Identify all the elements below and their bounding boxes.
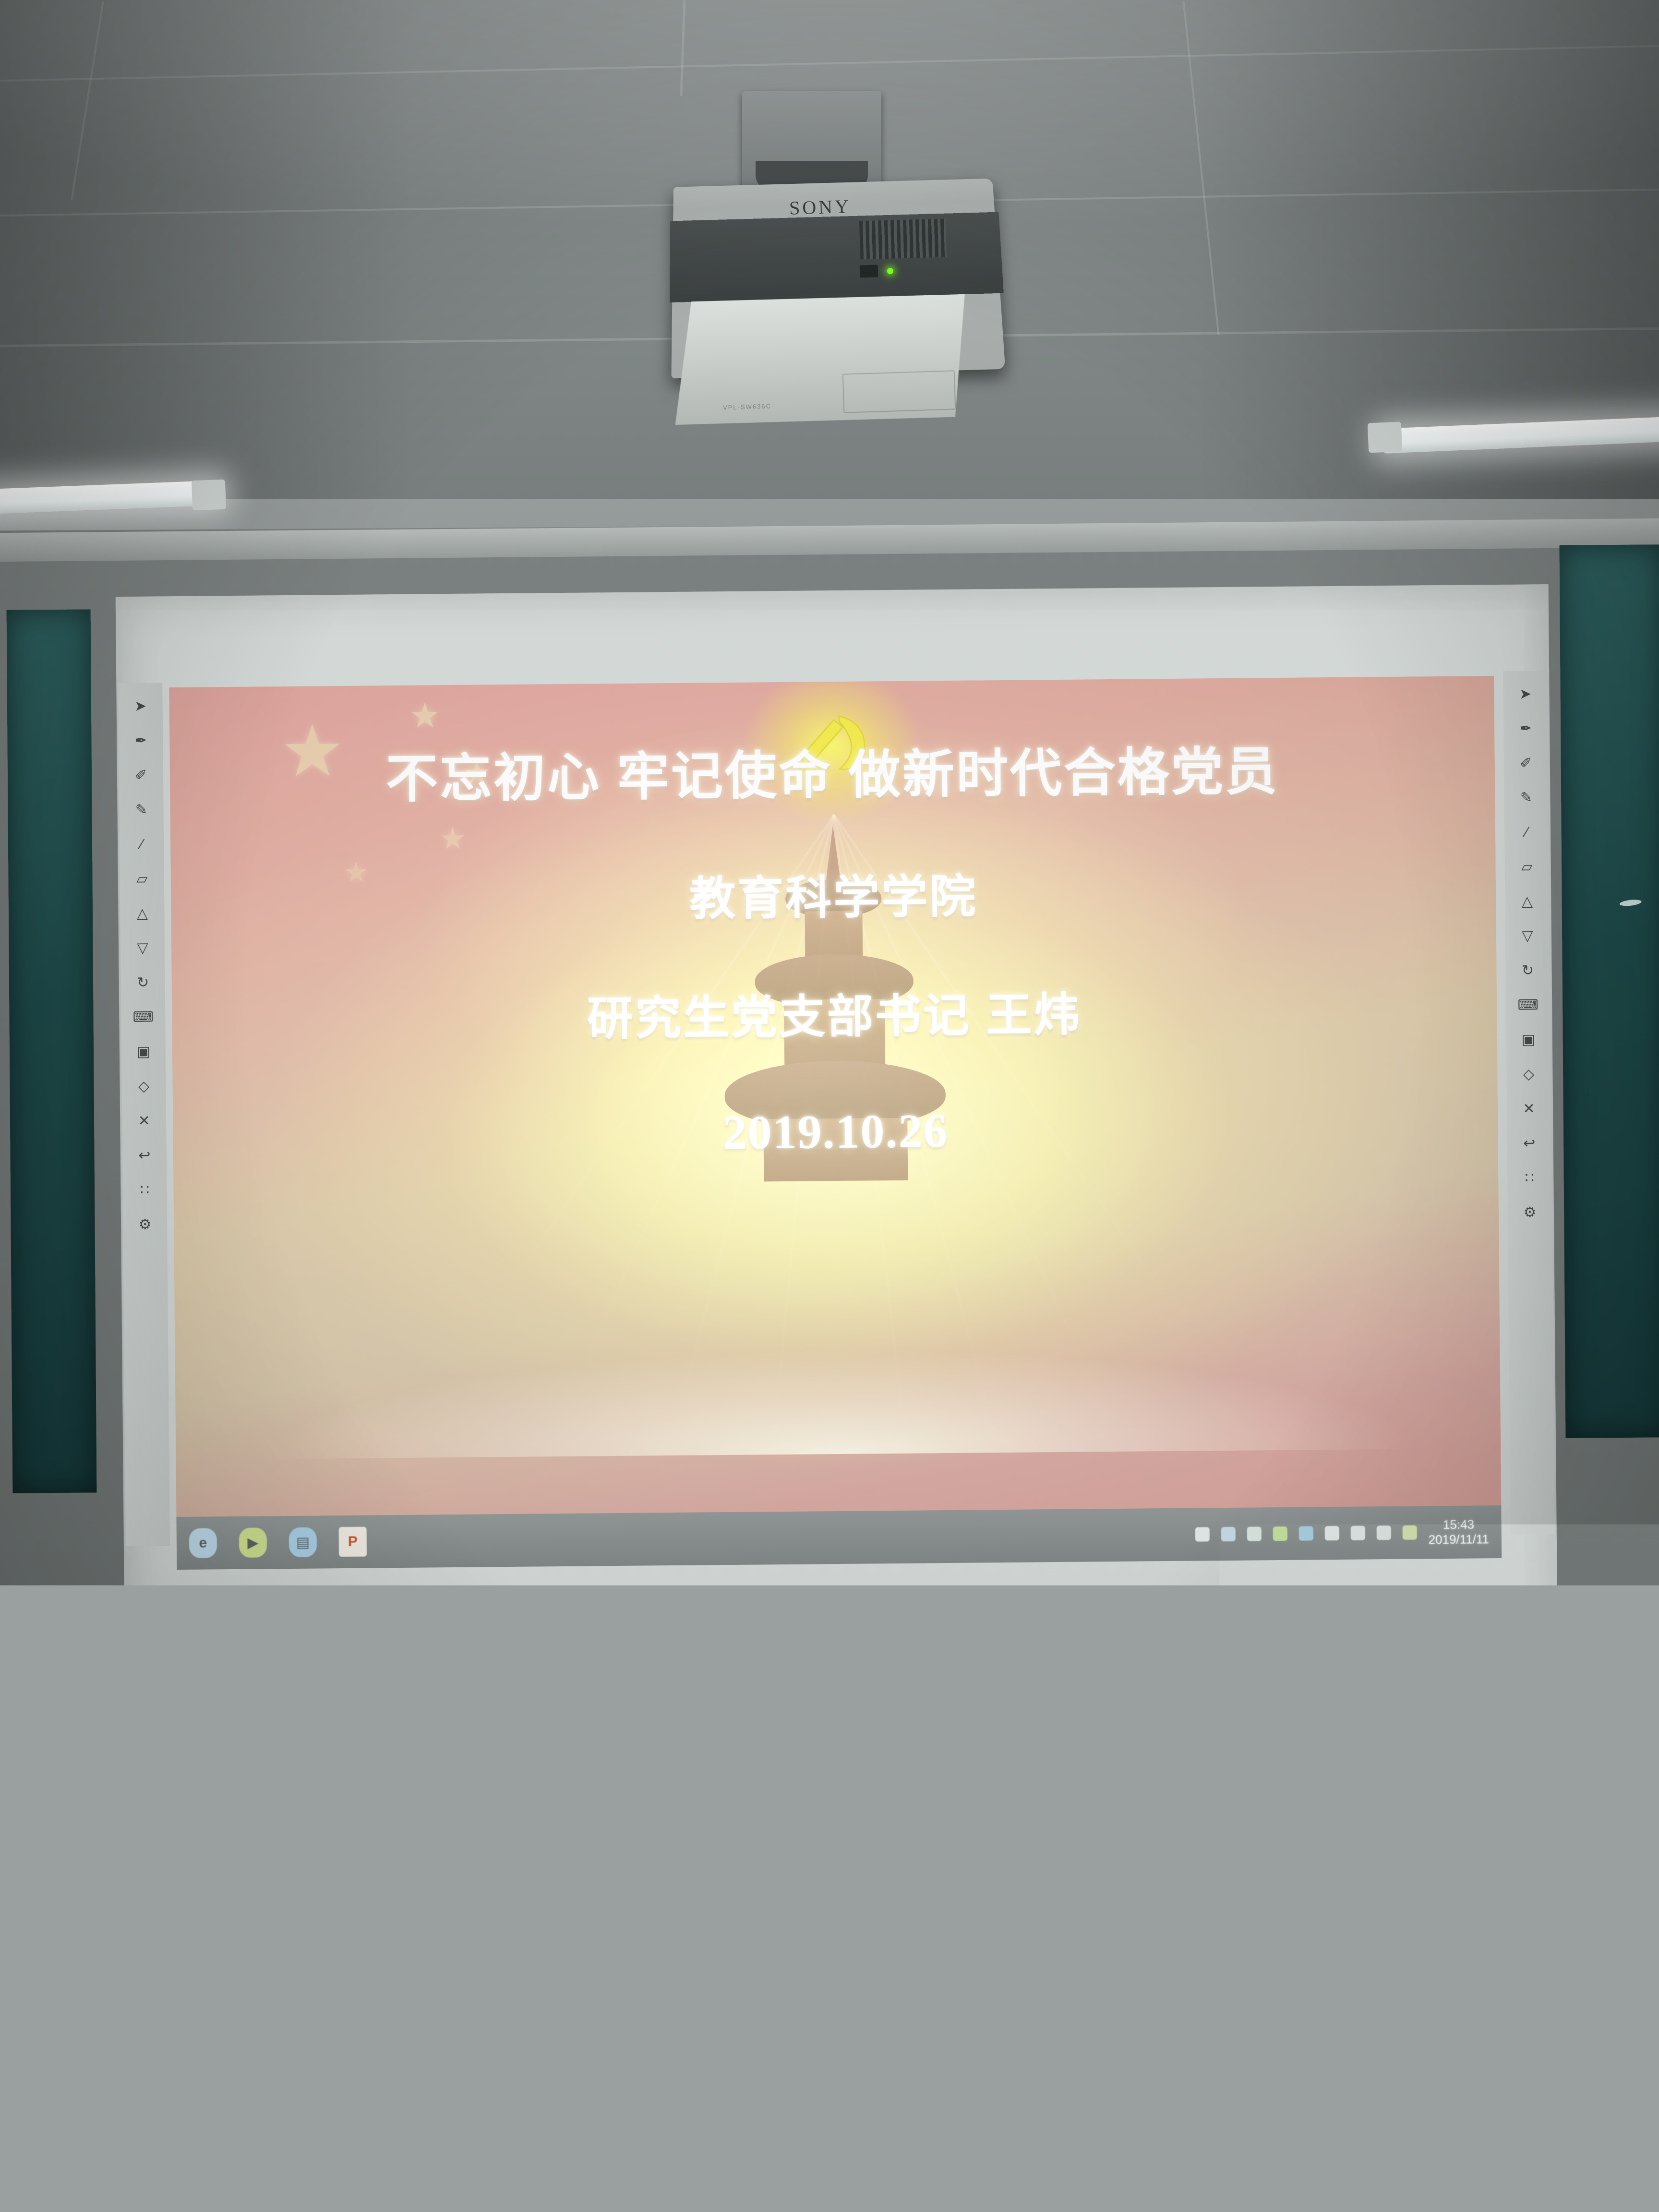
slide-organization: 教育科学学院 bbox=[171, 854, 1496, 933]
grid-menu-icon[interactable]: ∷ bbox=[130, 1175, 160, 1205]
explorer-icon[interactable]: ▤ bbox=[289, 1527, 317, 1557]
refresh-icon[interactable]: ↻ bbox=[1513, 956, 1543, 986]
light-end-cap bbox=[192, 480, 226, 511]
projector-ir-sensor-icon bbox=[860, 264, 878, 277]
tray-pen-icon[interactable] bbox=[1324, 1526, 1339, 1540]
close-icon[interactable]: ✕ bbox=[129, 1106, 159, 1136]
taskbar-system-tray[interactable]: 15:43 2019/11/11 bbox=[1195, 1517, 1489, 1550]
tray-monitor-icon[interactable] bbox=[1221, 1527, 1235, 1541]
page-up-icon[interactable]: △ bbox=[1512, 887, 1542, 917]
projector: SONY VPL-SW636C bbox=[670, 91, 1016, 456]
pen-icon[interactable]: ✒ bbox=[1511, 714, 1541, 744]
keyboard-icon[interactable]: ⌨ bbox=[1513, 990, 1543, 1021]
undo-icon[interactable]: ↩ bbox=[130, 1141, 160, 1171]
tray-sync-icon[interactable] bbox=[1350, 1526, 1365, 1540]
whiteboard-toolbar-right[interactable]: ➤✒✐✎∕▱△▽↻⌨▣◇✕↩∷⚙ bbox=[1503, 671, 1555, 1534]
cursor-icon[interactable]: ➤ bbox=[125, 691, 156, 721]
brush-icon[interactable]: ∕ bbox=[1512, 817, 1542, 848]
taskbar-pinned-apps[interactable]: e▶▤P bbox=[189, 1527, 367, 1558]
outlet-slot bbox=[905, 2008, 915, 2017]
media-icon[interactable]: ▶ bbox=[239, 1527, 267, 1558]
outlet-slot bbox=[909, 2041, 916, 2052]
brush-icon[interactable]: ∕ bbox=[127, 829, 157, 860]
cursor-icon[interactable]: ➤ bbox=[1510, 679, 1540, 709]
powerpoint-icon[interactable]: P bbox=[339, 1527, 367, 1557]
highlighter-icon[interactable]: ✐ bbox=[126, 760, 156, 791]
projected-slide: ★ ★ ★ ★ ★ bbox=[169, 676, 1501, 1518]
windows-taskbar[interactable]: e▶▤P 15:43 2019/11/11 bbox=[176, 1505, 1502, 1570]
settings-icon[interactable]: ⚙ bbox=[130, 1210, 160, 1240]
eraser-icon[interactable]: ▱ bbox=[127, 864, 157, 894]
projector-vent-icon bbox=[859, 219, 947, 260]
pen-icon[interactable]: ✒ bbox=[126, 726, 156, 756]
power-outlet bbox=[887, 1996, 960, 2072]
outlet-slot bbox=[921, 2027, 925, 2037]
slide-date: 2019.10.26 bbox=[173, 1098, 1498, 1165]
screen-capture-icon[interactable]: ▣ bbox=[129, 1037, 159, 1067]
tray-check-icon[interactable] bbox=[1273, 1527, 1287, 1541]
clock-date: 2019/11/11 bbox=[1429, 1532, 1490, 1547]
keyboard-icon[interactable]: ⌨ bbox=[128, 1002, 158, 1033]
settings-icon[interactable]: ⚙ bbox=[1515, 1198, 1545, 1228]
outlet-slot bbox=[929, 2041, 937, 2052]
page-up-icon[interactable]: △ bbox=[127, 899, 157, 929]
tray-doc-icon[interactable] bbox=[1247, 1527, 1261, 1541]
shape-select-icon[interactable]: ◇ bbox=[1514, 1059, 1544, 1090]
slide-presenter-role: 研究生党支部书记 王炜 bbox=[172, 974, 1497, 1052]
slide-title: 不忘初心 牢记使命 做新时代合格党员 bbox=[169, 728, 1495, 814]
whiteboard-toolbar-left[interactable]: ➤✒✐✎∕▱△▽↻⌨▣◇✕↩∷⚙ bbox=[118, 683, 170, 1546]
marker-icon[interactable]: ✎ bbox=[126, 795, 156, 825]
horizon-glow bbox=[169, 1303, 1501, 1461]
marker-icon[interactable]: ✎ bbox=[1511, 783, 1541, 813]
page-down-icon[interactable]: ▽ bbox=[1513, 921, 1543, 951]
blackboard-right bbox=[1560, 544, 1659, 1438]
shape-select-icon[interactable]: ◇ bbox=[129, 1071, 159, 1102]
screen-capture-icon[interactable]: ▣ bbox=[1514, 1025, 1544, 1055]
tray-arrow-icon[interactable] bbox=[1195, 1527, 1209, 1541]
projector-power-led-icon bbox=[887, 268, 893, 274]
outlet-slot bbox=[928, 2008, 938, 2016]
chalk-smudge bbox=[1619, 899, 1642, 907]
light-end-cap bbox=[1368, 422, 1403, 453]
tray-shield-icon[interactable] bbox=[1298, 1526, 1313, 1540]
refresh-icon[interactable]: ↻ bbox=[128, 968, 158, 998]
projector-dark-band bbox=[670, 212, 1003, 302]
page-down-icon[interactable]: ▽ bbox=[128, 933, 158, 963]
flag-star-icon: ★ bbox=[439, 824, 466, 854]
highlighter-icon[interactable]: ✐ bbox=[1511, 748, 1541, 779]
grid-menu-icon[interactable]: ∷ bbox=[1515, 1163, 1545, 1193]
taskbar-clock[interactable]: 15:43 2019/11/11 bbox=[1428, 1517, 1489, 1547]
undo-icon[interactable]: ↩ bbox=[1514, 1129, 1544, 1159]
classroom-photo-scene: SONY VPL-SW636C ➤✒✐✎∕▱△▽↻⌨▣◇✕↩∷⚙ ➤✒✐✎∕▱△… bbox=[0, 0, 1659, 2212]
interactive-whiteboard-screen[interactable]: ➤✒✐✎∕▱△▽↻⌨▣◇✕↩∷⚙ ➤✒✐✎∕▱△▽↻⌨▣◇✕↩∷⚙ ★ ★ ★ … bbox=[116, 584, 1558, 1629]
flag-star-icon: ★ bbox=[409, 698, 441, 733]
projector-brand-label: SONY bbox=[789, 195, 851, 219]
close-icon[interactable]: ✕ bbox=[1514, 1094, 1544, 1124]
eraser-icon[interactable]: ▱ bbox=[1512, 852, 1542, 882]
blackboard-left bbox=[7, 609, 97, 1493]
lower-wall bbox=[0, 1647, 1659, 2151]
clock-time: 15:43 bbox=[1428, 1517, 1489, 1533]
projector-lens-slot bbox=[842, 370, 956, 413]
browser-icon[interactable]: e bbox=[189, 1528, 217, 1558]
tray-network-icon[interactable] bbox=[1402, 1525, 1417, 1539]
tray-volume-icon[interactable] bbox=[1376, 1526, 1391, 1540]
